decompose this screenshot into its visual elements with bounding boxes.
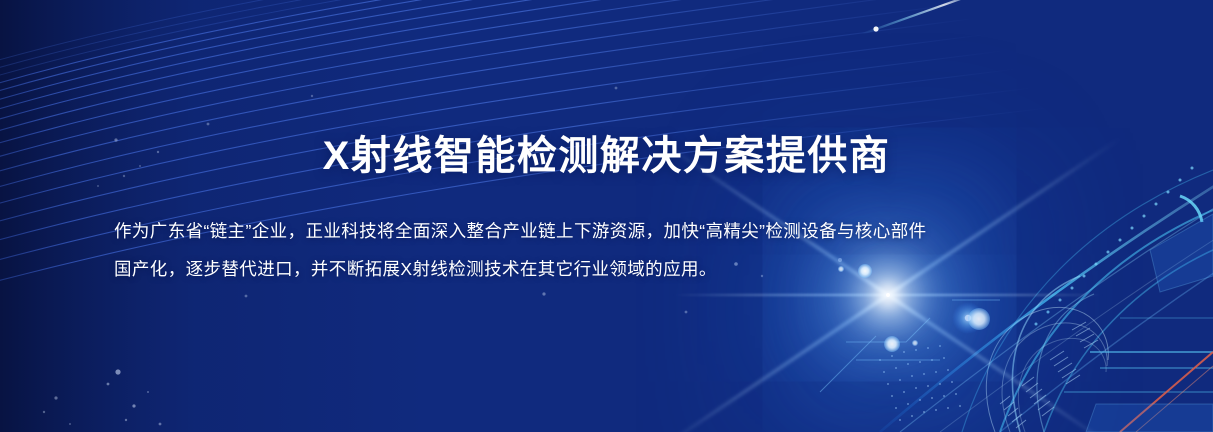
- description-line-1: 作为广东省“链主”企业，正业科技将全面深入整合产业链上下游资源，加快“高精尖”检…: [114, 212, 1104, 250]
- description-line-2: 国产化，逐步替代进口，并不断拓展X射线检测技术在其它行业领域的应用。: [114, 250, 1104, 288]
- page-title: X射线智能检测解决方案提供商: [0, 132, 1213, 180]
- hero-banner: X射线智能检测解决方案提供商 作为广东省“链主”企业，正业科技将全面深入整合产业…: [0, 0, 1213, 432]
- banner-content: X射线智能检测解决方案提供商 作为广东省“链主”企业，正业科技将全面深入整合产业…: [0, 0, 1213, 432]
- banner-description: 作为广东省“链主”企业，正业科技将全面深入整合产业链上下游资源，加快“高精尖”检…: [114, 212, 1104, 288]
